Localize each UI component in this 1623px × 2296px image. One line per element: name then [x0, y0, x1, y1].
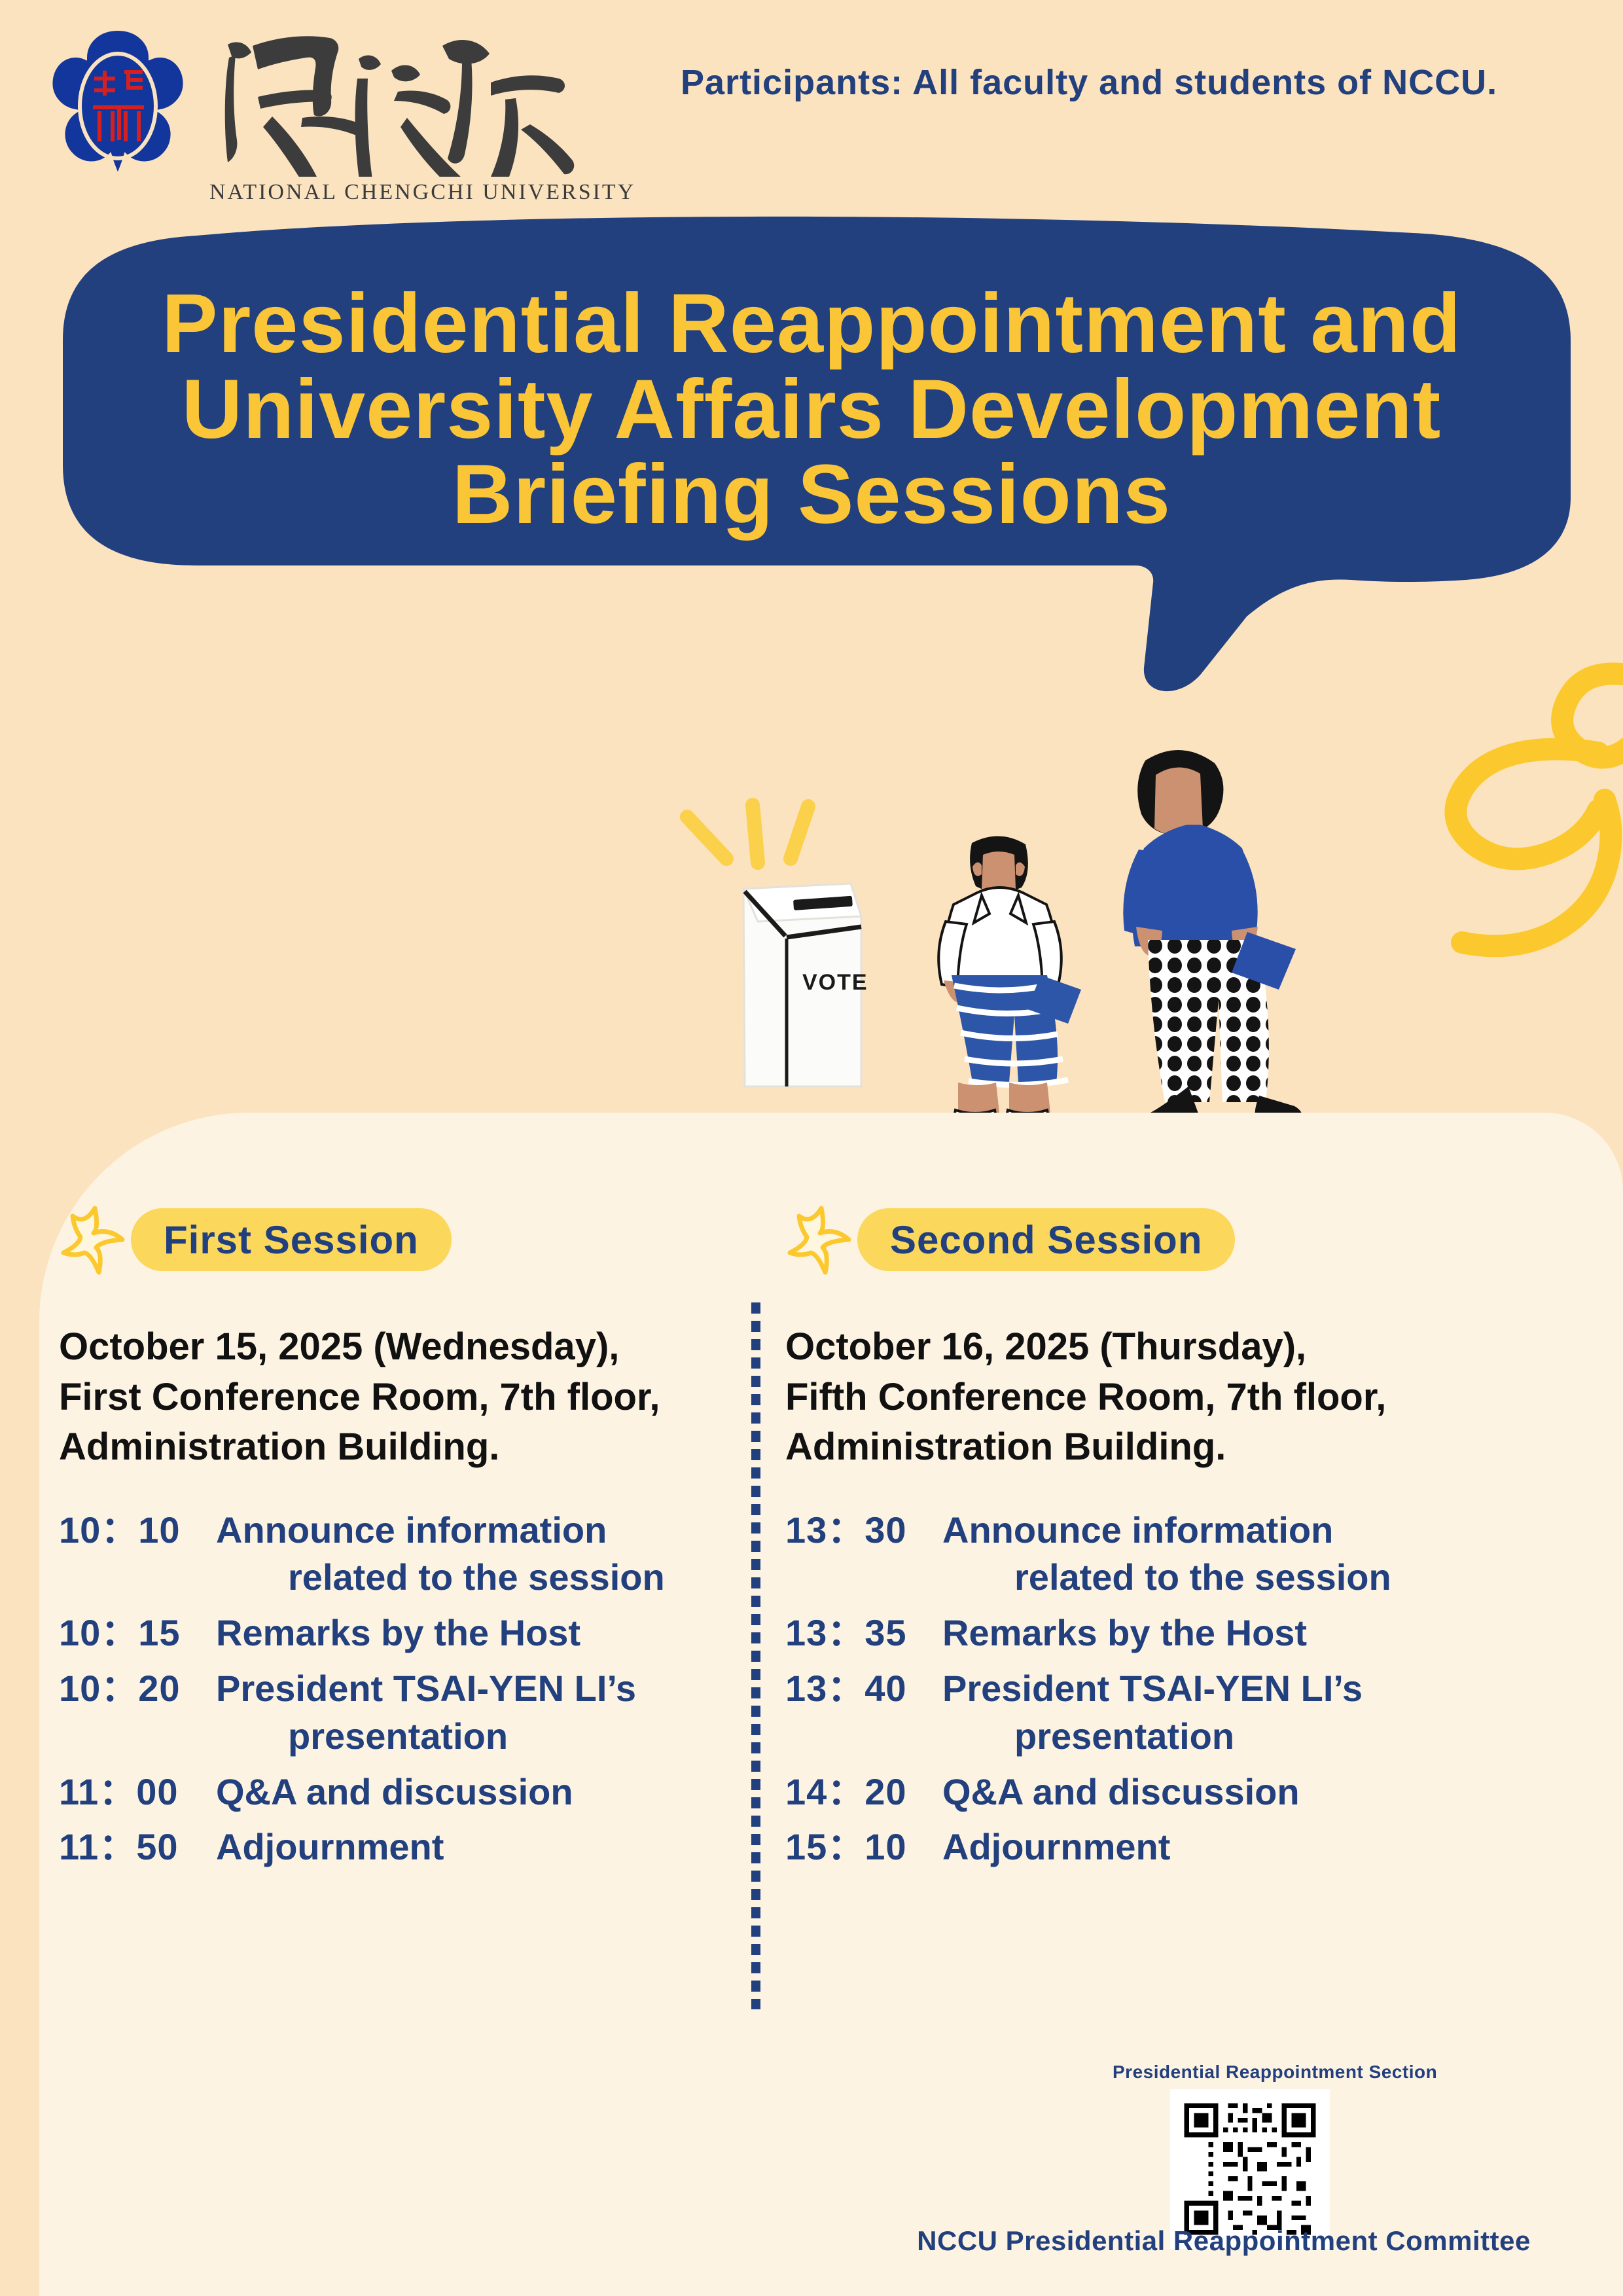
session-badge-label: First Session: [164, 1217, 419, 1263]
university-name-en: NATIONAL CHENGCHI UNIVERSITY: [209, 180, 602, 205]
agenda-time: 11：50: [59, 1823, 216, 1871]
agenda-text-main: President TSAI-YEN LI’s: [216, 1668, 636, 1709]
agenda-time: 10：20: [59, 1665, 216, 1713]
nccu-chinese-calligraphy-wordmark-icon: [190, 20, 596, 177]
agenda-text: Announce information related to the sess…: [942, 1507, 1479, 1602]
sparkle-star-icon: [59, 1203, 131, 1275]
agenda-text-cont: related to the session: [216, 1554, 726, 1602]
agenda-text-cont: related to the session: [942, 1554, 1479, 1602]
agenda-row: 13：40 President TSAI-YEN LI’s presentati…: [785, 1665, 1479, 1761]
agenda-time: 15：10: [785, 1823, 942, 1871]
agenda-list-first: 10：10 Announce information related to th…: [59, 1507, 726, 1872]
agenda-text: Q&A and discussion: [942, 1768, 1479, 1816]
agenda-text-main: Adjournment: [216, 1826, 444, 1867]
session-header-second: Second Session: [785, 1198, 1479, 1283]
voter-person-icon: [1123, 750, 1302, 1126]
place-line: October 15, 2025 (Wednesday),: [59, 1322, 726, 1372]
nccu-plum-blossom-seal-icon: [46, 25, 190, 188]
agenda-text-main: Remarks by the Host: [216, 1612, 580, 1653]
agenda-row: 11：50 Adjournment: [59, 1823, 726, 1871]
yellow-squiggle-icon: [1433, 655, 1623, 1021]
session-badge-first[interactable]: First Session: [131, 1208, 452, 1271]
session-header-first: First Session: [59, 1198, 726, 1283]
agenda-text-main: Announce information: [216, 1509, 607, 1551]
voter-woman-icon: [938, 836, 1081, 1126]
agenda-time: 13：30: [785, 1507, 942, 1554]
agenda-text-main: Adjournment: [942, 1826, 1170, 1867]
title-line-3: Briefing Sessions: [85, 452, 1538, 538]
title-line-2: University Affairs Development: [85, 367, 1538, 453]
place-line: Fifth Conference Room, 7th floor,: [785, 1372, 1479, 1423]
agenda-time: 10：10: [59, 1507, 216, 1554]
agenda-row: 10：15 Remarks by the Host: [59, 1609, 726, 1657]
place-line: Administration Building.: [59, 1422, 726, 1473]
agenda-text: President TSAI-YEN LI’s presentation: [216, 1665, 726, 1761]
agenda-list-second: 13：30 Announce information related to th…: [785, 1507, 1479, 1872]
agenda-time: 14：20: [785, 1768, 942, 1816]
agenda-text: Adjournment: [216, 1823, 726, 1871]
agenda-text: President TSAI-YEN LI’s presentation: [942, 1665, 1479, 1761]
agenda-text: Announce information related to the sess…: [216, 1507, 726, 1602]
agenda-text-main: Q&A and discussion: [216, 1771, 573, 1812]
session-place-second: October 16, 2025 (Thursday), Fifth Confe…: [785, 1322, 1479, 1473]
agenda-text-main: Remarks by the Host: [942, 1612, 1307, 1653]
participants-line: Participants: All faculty and students o…: [681, 62, 1597, 103]
column-divider: [751, 1302, 760, 2009]
qr-block: Presidential Reappointment Section: [1113, 2062, 1387, 2252]
poster-title: Presidential Reappointment and Universit…: [85, 281, 1538, 538]
agenda-text: Remarks by the Host: [216, 1609, 726, 1657]
voting-illustration: VOTE: [674, 720, 1315, 1126]
agenda-text-main: Q&A and discussion: [942, 1771, 1300, 1812]
session-badge-label: Second Session: [890, 1217, 1202, 1263]
agenda-row: 14：20 Q&A and discussion: [785, 1768, 1479, 1816]
agenda-text-cont: presentation: [942, 1713, 1479, 1761]
place-line: October 16, 2025 (Thursday),: [785, 1322, 1479, 1372]
agenda-time: 10：15: [59, 1609, 216, 1657]
sparkle-star-icon: [785, 1203, 857, 1275]
agenda-row: 11：00 Q&A and discussion: [59, 1768, 726, 1816]
poster-root: NATIONAL CHENGCHI UNIVERSITY Participant…: [0, 0, 1623, 2296]
agenda-time: 13：35: [785, 1609, 942, 1657]
agenda-text-cont: presentation: [216, 1713, 726, 1761]
agenda-time: 13：40: [785, 1665, 942, 1713]
ballot-vote-label: VOTE: [802, 970, 868, 995]
agenda-row: 10：20 President TSAI-YEN LI’s presentati…: [59, 1665, 726, 1761]
qr-caption: Presidential Reappointment Section: [1113, 2062, 1387, 2083]
agenda-row: 13：35 Remarks by the Host: [785, 1609, 1479, 1657]
session-column-second: Second Session October 16, 2025 (Thursda…: [785, 1198, 1479, 1879]
agenda-row: 13：30 Announce information related to th…: [785, 1507, 1479, 1602]
session-place-first: October 15, 2025 (Wednesday), First Conf…: [59, 1322, 726, 1473]
agenda-text: Q&A and discussion: [216, 1768, 726, 1816]
agenda-text-main: President TSAI-YEN LI’s: [942, 1668, 1363, 1709]
agenda-row: 15：10 Adjournment: [785, 1823, 1479, 1871]
agenda-row: 10：10 Announce information related to th…: [59, 1507, 726, 1602]
agenda-text-main: Announce information: [942, 1509, 1333, 1551]
agenda-text: Remarks by the Host: [942, 1609, 1479, 1657]
agenda-time: 11：00: [59, 1768, 216, 1816]
title-line-1: Presidential Reappointment and: [85, 281, 1538, 367]
place-line: Administration Building.: [785, 1422, 1479, 1473]
title-speech-bubble: Presidential Reappointment and Universit…: [0, 216, 1623, 700]
session-badge-second[interactable]: Second Session: [857, 1208, 1235, 1271]
agenda-text: Adjournment: [942, 1823, 1479, 1871]
university-logo-block: NATIONAL CHENGCHI UNIVERSITY: [26, 13, 602, 209]
session-column-first: First Session October 15, 2025 (Wednesda…: [59, 1198, 726, 1879]
place-line: First Conference Room, 7th floor,: [59, 1372, 726, 1423]
committee-line: NCCU Presidential Reappointment Committe…: [870, 2225, 1577, 2257]
spark-lines-icon: [687, 805, 808, 863]
ballot-box-icon: VOTE: [743, 884, 868, 1086]
